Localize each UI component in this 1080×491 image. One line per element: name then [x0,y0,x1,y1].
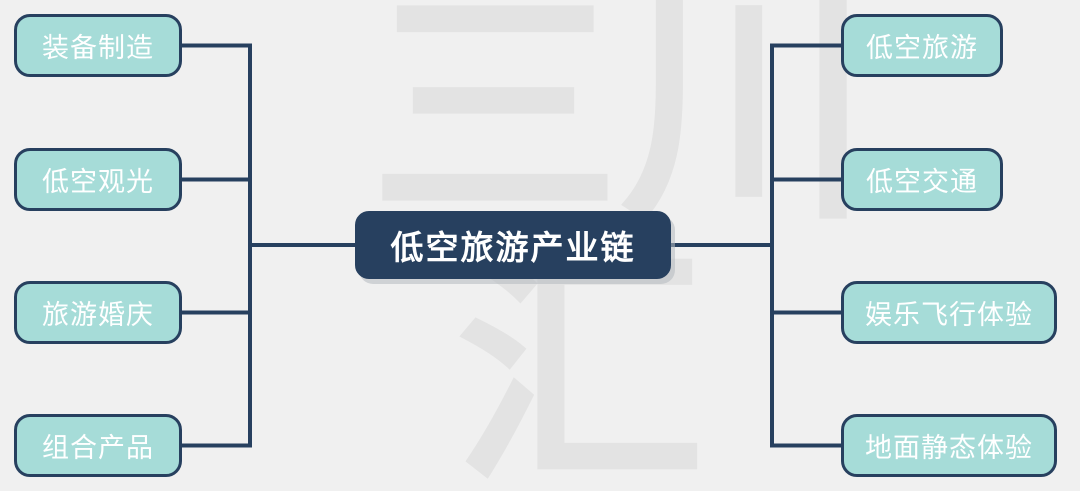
left-branch-label-0: 装备制造 [42,26,154,65]
right-branch-label-0: 低空旅游 [866,26,978,65]
right-branch-label-1: 低空交通 [866,160,978,199]
right-branch-node-3[interactable]: 地面静态体验 [841,414,1057,477]
right-branch-label-2: 娱乐飞行体验 [865,293,1033,332]
center-node-label: 低空旅游产业链 [391,221,636,269]
watermark-text-top: 三川 [370,0,870,232]
left-branch-node-0[interactable]: 装备制造 [14,14,182,77]
right-branch-node-1[interactable]: 低空交通 [841,148,1003,211]
center-node[interactable]: 低空旅游产业链 [355,211,671,279]
right-branch-node-0[interactable]: 低空旅游 [841,14,1003,77]
watermark-text-bottom: 汇 [455,245,705,491]
mindmap-canvas: 三川 汇 装备制造 低空观光 旅游婚庆 [0,0,1080,491]
left-branch-label-2: 旅游婚庆 [42,293,154,332]
left-branch-label-1: 低空观光 [42,160,154,199]
left-branch-node-2[interactable]: 旅游婚庆 [14,281,182,344]
right-branch-label-3: 地面静态体验 [865,426,1033,465]
left-branch-node-1[interactable]: 低空观光 [14,148,182,211]
left-branch-node-3[interactable]: 组合产品 [14,414,182,477]
left-branch-label-3: 组合产品 [42,426,154,465]
right-branch-node-2[interactable]: 娱乐飞行体验 [841,281,1057,344]
